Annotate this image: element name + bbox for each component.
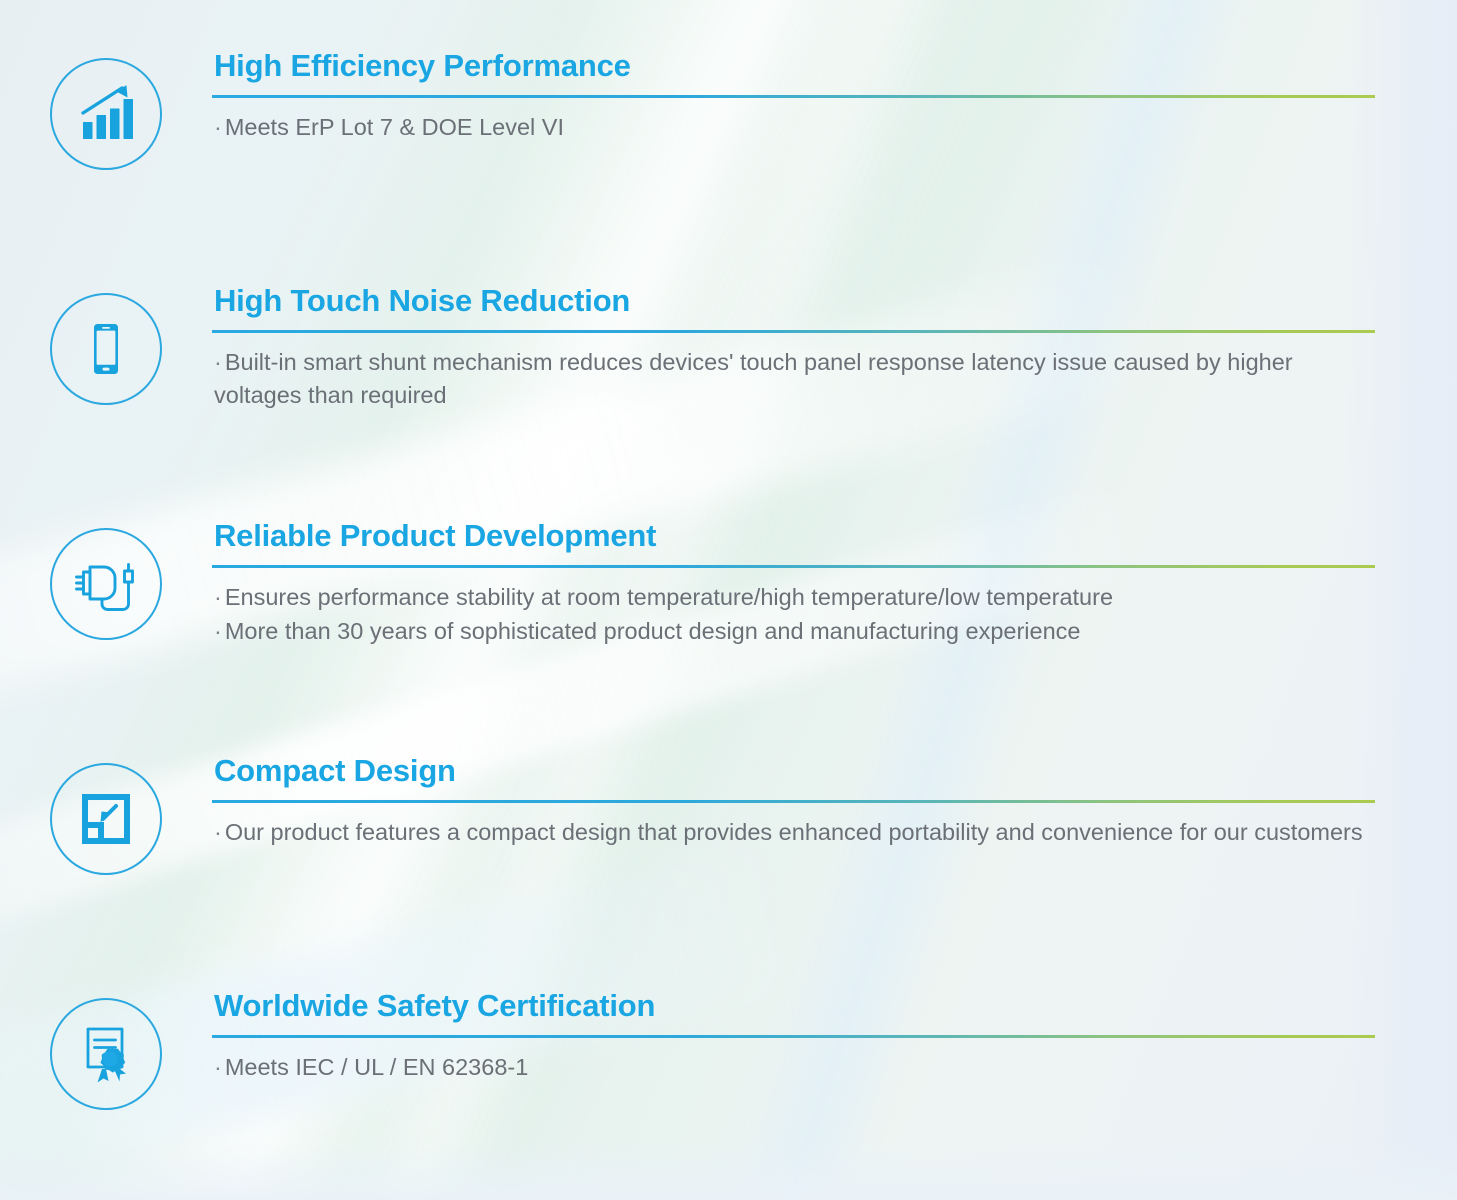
feature-icon-column	[0, 520, 212, 640]
bullet-marker: ·	[214, 584, 225, 610]
feature-title: High Efficiency Performance	[212, 50, 1375, 95]
feature-icon-column	[0, 755, 212, 875]
feature-icon-column	[0, 285, 212, 405]
feature-bullet: ·Our product features a compact design t…	[214, 816, 1375, 849]
feature-bullets: ·Ensures performance stability at room t…	[212, 568, 1375, 649]
feature-bullets: ·Meets ErP Lot 7 & DOE Level VI	[212, 98, 1375, 144]
bullet-text: Meets IEC / UL / EN 62368-1	[225, 1054, 528, 1080]
compact-resize-icon	[50, 763, 162, 875]
feature-text-column: Reliable Product Development ·Ensures pe…	[212, 520, 1457, 648]
feature-item-high-touch-noise-reduction: High Touch Noise Reduction ·Built-in sma…	[0, 285, 1457, 412]
bullet-text: Our product features a compact design th…	[225, 819, 1363, 845]
background-edge-bottom	[0, 1140, 1457, 1200]
feature-icon-column	[0, 50, 212, 170]
bullet-marker: ·	[214, 819, 225, 845]
smartphone-icon	[50, 293, 162, 405]
bullet-marker: ·	[214, 349, 225, 375]
feature-bullet: ·Ensures performance stability at room t…	[214, 581, 1375, 614]
bullet-marker: ·	[214, 1054, 225, 1080]
bullet-text: More than 30 years of sophisticated prod…	[225, 618, 1081, 644]
bullet-text: Meets ErP Lot 7 & DOE Level VI	[225, 114, 564, 140]
feature-item-worldwide-safety-certification: Worldwide Safety Certification ·Meets IE…	[0, 990, 1457, 1110]
feature-title: Reliable Product Development	[212, 520, 1375, 565]
feature-title: High Touch Noise Reduction	[212, 285, 1375, 330]
bullet-marker: ·	[214, 618, 225, 644]
feature-item-high-efficiency-performance: High Efficiency Performance ·Meets ErP L…	[0, 50, 1457, 170]
feature-bullet: ·Meets ErP Lot 7 & DOE Level VI	[214, 111, 1375, 144]
feature-item-reliable-product-development: Reliable Product Development ·Ensures pe…	[0, 520, 1457, 648]
feature-text-column: Compact Design ·Our product features a c…	[212, 755, 1457, 849]
feature-text-column: Worldwide Safety Certification ·Meets IE…	[212, 990, 1457, 1084]
feature-item-compact-design: Compact Design ·Our product features a c…	[0, 755, 1457, 875]
feature-bullets: ·Meets IEC / UL / EN 62368-1	[212, 1038, 1375, 1084]
growth-bar-chart-icon	[50, 58, 162, 170]
bullet-marker: ·	[214, 114, 225, 140]
power-adapter-icon	[50, 528, 162, 640]
bullet-text: Built-in smart shunt mechanism reduces d…	[214, 349, 1293, 408]
feature-highlights-page: High Efficiency Performance ·Meets ErP L…	[0, 0, 1457, 1200]
feature-icon-column	[0, 990, 212, 1110]
feature-bullets: ·Built-in smart shunt mechanism reduces …	[212, 333, 1375, 413]
feature-bullet: ·Meets IEC / UL / EN 62368-1	[214, 1051, 1375, 1084]
certificate-seal-icon	[50, 998, 162, 1110]
feature-bullet: ·Built-in smart shunt mechanism reduces …	[214, 346, 1375, 413]
feature-bullet: ·More than 30 years of sophisticated pro…	[214, 615, 1375, 648]
bullet-text: Ensures performance stability at room te…	[225, 584, 1113, 610]
feature-title: Compact Design	[212, 755, 1375, 800]
feature-title: Worldwide Safety Certification	[212, 990, 1375, 1035]
feature-bullets: ·Our product features a compact design t…	[212, 803, 1375, 849]
feature-text-column: High Touch Noise Reduction ·Built-in sma…	[212, 285, 1457, 412]
feature-text-column: High Efficiency Performance ·Meets ErP L…	[212, 50, 1457, 144]
